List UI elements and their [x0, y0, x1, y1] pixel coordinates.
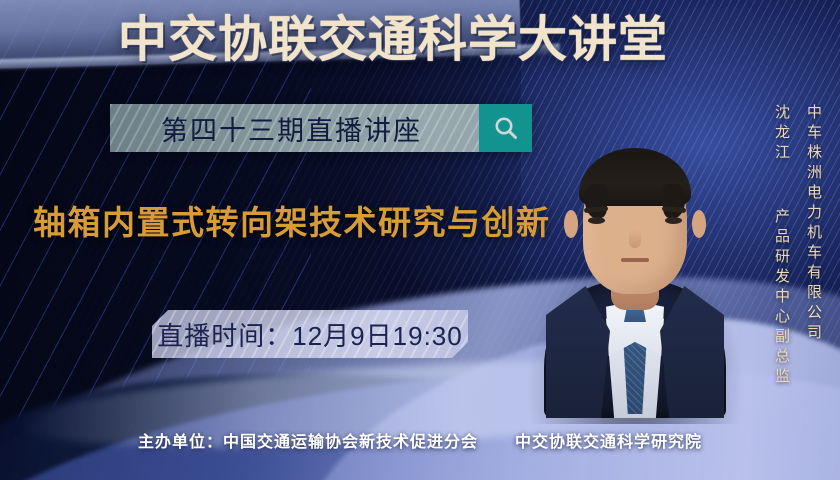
- speaker-name-and-title: 沈龙江 产品研发中心副总监: [771, 104, 792, 388]
- session-banner: 第四十三期直播讲座: [110, 104, 532, 152]
- portrait-ear-right: [692, 210, 706, 238]
- footer-institute: 中交协联交通科学研究院: [515, 428, 702, 452]
- broadcast-time-label: 直播时间：12月9日19:30: [157, 316, 462, 353]
- session-label: 第四十三期直播讲座: [110, 104, 479, 152]
- footer-organizer: 主办单位：中国交通运输协会新技术促进分会: [138, 428, 478, 452]
- portrait-eye-left: [588, 217, 605, 224]
- webinar-poster: 中交协联交通科学大讲堂 第四十三期直播讲座 轴箱内置式转向架技术研究与创新 直播…: [0, 0, 840, 480]
- broadcast-time-badge: 直播时间：12月9日19:30: [152, 310, 468, 358]
- search-icon[interactable]: [479, 104, 532, 152]
- speaker-company: 中车株洲电力机车有限公司: [803, 104, 824, 344]
- speaker-portrait: [540, 118, 730, 418]
- footer: 主办单位：中国交通运输协会新技术促进分会 中交协联交通科学研究院: [0, 428, 840, 452]
- portrait-mouth: [621, 258, 649, 262]
- portrait-hair: [579, 148, 691, 206]
- page-title: 中交协联交通科学大讲堂: [118, 16, 668, 65]
- lecture-topic: 轴箱内置式转向架技术研究与创新: [33, 196, 551, 244]
- portrait-eye-right: [665, 217, 682, 224]
- portrait-nose: [629, 230, 641, 248]
- portrait-ear-left: [564, 210, 578, 238]
